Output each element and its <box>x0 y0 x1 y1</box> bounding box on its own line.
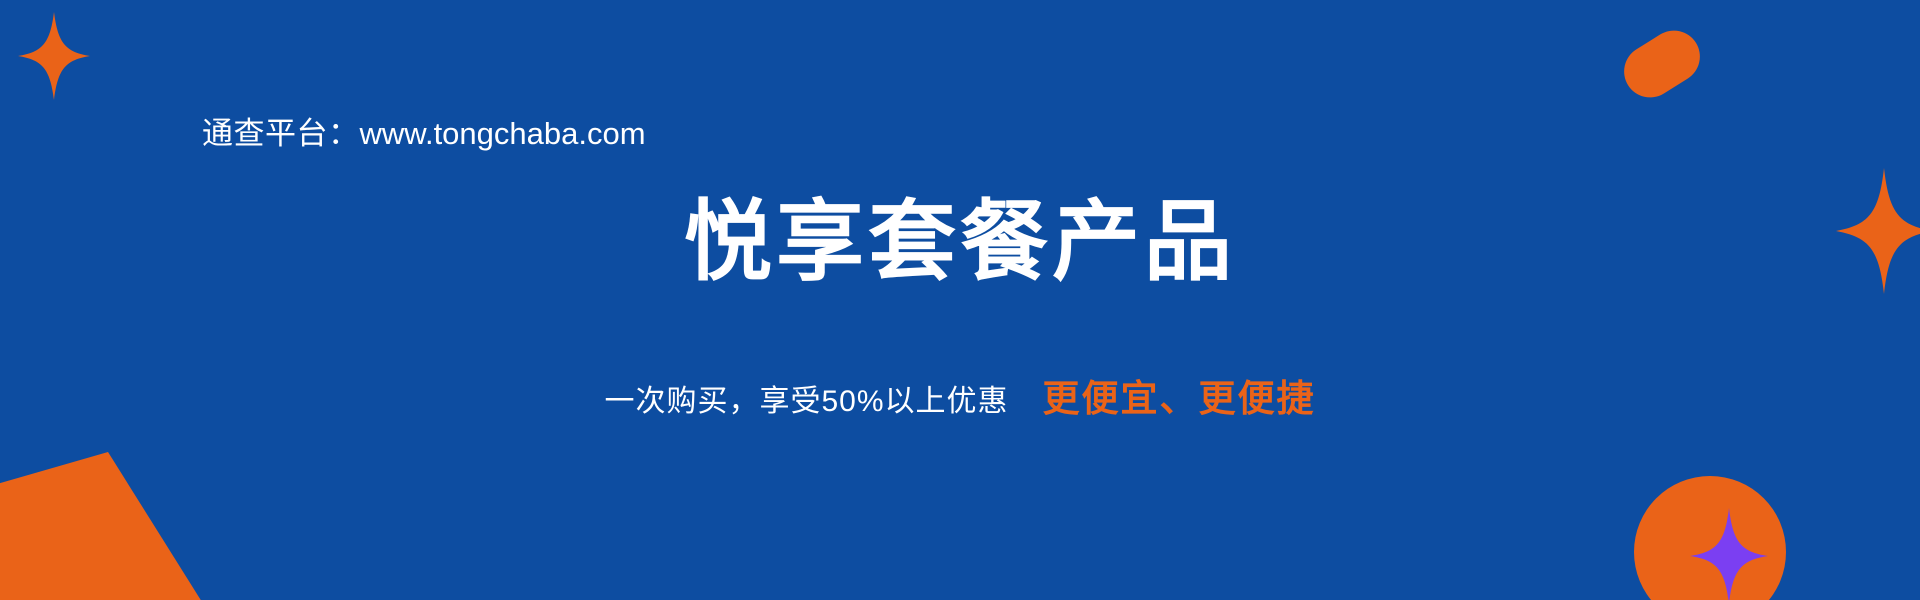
page-title: 悦享套餐产品 <box>0 196 1920 288</box>
subtitle-row: 一次购买，享受50%以上优惠 更便宜、更便捷 <box>0 368 1920 422</box>
platform-url: www.tongchaba.com <box>360 116 646 151</box>
banner-text-layer: 通查平台：www.tongchaba.com 悦享套餐产品 一次购买，享受50%… <box>0 0 1920 600</box>
promo-banner: 通查平台：www.tongchaba.com 悦享套餐产品 一次购买，享受50%… <box>0 0 1920 600</box>
platform-url-line: 通查平台：www.tongchaba.com <box>202 108 646 153</box>
subtitle-highlight-text: 更便宜、更便捷 <box>1043 368 1316 422</box>
platform-label: 通查平台： <box>202 116 360 151</box>
subtitle-offer-text: 一次购买，享受50%以上优惠 <box>604 376 1008 420</box>
